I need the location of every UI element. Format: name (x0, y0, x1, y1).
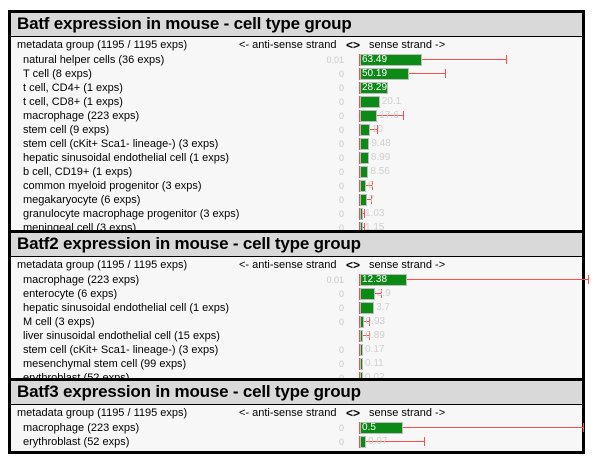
bar-row: hepatic sinusoidal endothelial cell (1 e… (11, 301, 582, 315)
error-bar-cap (445, 69, 446, 78)
axis-min-label: 0 (339, 151, 344, 165)
category-label: hepatic sinusoidal endothelial cell (1 e… (23, 151, 229, 165)
value-bar[interactable] (360, 330, 363, 342)
category-label: erythroblast (52 exps) (23, 435, 129, 449)
bar-value-label: 6 (368, 179, 374, 192)
error-bar-cap (588, 275, 589, 284)
category-label: stem cell (9 exps) (23, 123, 109, 137)
axis-min-label: 0 (339, 421, 344, 435)
bar-plot-area: 0.89 (346, 329, 580, 343)
bar-row: macrophage (223 exps)017.6 (11, 109, 582, 123)
panel-body-batf3: metadata group (1195 / 1195 exps) <- ant… (11, 405, 582, 451)
bar-value-label: 1.03 (365, 207, 384, 220)
error-bar-line (407, 279, 588, 280)
bar-value-label: 8.99 (371, 151, 390, 164)
bar-plot-area: 00.5 (346, 421, 580, 435)
panel-title-batf: Batf expression in mouse - cell type gro… (11, 13, 582, 37)
bar-row: T cell (8 exps)050.19 (11, 67, 582, 81)
bar-plot-area: 028.29 (346, 81, 580, 95)
error-bar-cap (506, 55, 507, 64)
category-label: common myeloid progenitor (3 exps) (23, 179, 202, 193)
bar-plot-area: 017.6 (346, 109, 580, 123)
axis-min-label: 0 (339, 137, 344, 151)
bar-value-label: 3.7 (376, 301, 390, 314)
bar-value-label: 7 (369, 193, 375, 206)
value-bar[interactable] (360, 288, 375, 300)
strand-diamond-icon: <> (346, 406, 360, 420)
bar-row: enterocyte (6 exps)03.9 (11, 287, 582, 301)
category-label: mesenchymal stem cell (99 exps) (23, 357, 186, 371)
category-label: granulocyte macrophage progenitor (3 exp… (23, 207, 239, 221)
value-bar[interactable] (360, 110, 377, 122)
panel-body-batf2: metadata group (1195 / 1195 exps) <- ant… (11, 257, 582, 387)
sense-strand-label: sense strand -> (369, 39, 445, 51)
error-bar-cap (583, 423, 584, 432)
antisense-strand-label: <- anti-sense strand (239, 39, 337, 51)
axis-min-label: 0 (339, 193, 344, 207)
bar-rows-batf2: macrophage (223 exps)0.0112.38enterocyte… (11, 273, 582, 385)
bar-row: macrophage (223 exps)00.5 (11, 421, 582, 435)
value-bar[interactable] (360, 208, 363, 220)
category-label: macrophage (223 exps) (23, 421, 139, 435)
category-label: megakaryocyte (6 exps) (23, 193, 140, 207)
axis-min-label: 0 (339, 165, 344, 179)
bar-value-label: 0.17 (365, 343, 384, 356)
category-label: stem cell (cKit+ Sca1- lineage-) (3 exps… (23, 343, 218, 357)
metadata-group-label: metadata group (1195 / 1195 exps) (17, 39, 187, 51)
category-label: b cell, CD19+ (1 exps) (23, 165, 132, 179)
value-bar[interactable] (360, 96, 380, 108)
value-bar[interactable] (360, 302, 374, 314)
value-bar[interactable] (360, 436, 366, 448)
expression-chart-page: Batf expression in mouse - cell type gro… (0, 0, 600, 457)
bar-plot-area: 0.0112.38 (346, 273, 580, 287)
bar-plot-area: 00.11 (346, 357, 580, 371)
axis-min-label: 0 (339, 207, 344, 221)
bar-plot-area: 03.9 (346, 287, 580, 301)
axis-min-label: 0 (339, 343, 344, 357)
panel-title-batf3: Batf3 expression in mouse - cell type gr… (11, 381, 582, 405)
value-bar[interactable] (360, 194, 367, 206)
bar-value-label: 0.11 (365, 357, 384, 370)
sense-strand-label: sense strand -> (369, 407, 445, 419)
strand-diamond-icon: <> (346, 38, 360, 52)
category-label: hepatic sinusoidal endothelial cell (1 e… (23, 301, 229, 315)
bar-value-label: 0.5 (362, 421, 376, 434)
bar-row: stem cell (cKit+ Sca1- lineage-) (3 exps… (11, 137, 582, 151)
axis-min-label: 0 (339, 435, 344, 449)
value-bar[interactable] (360, 152, 369, 164)
strand-diamond-icon: <> (346, 258, 360, 272)
axis-min-label: 0 (339, 179, 344, 193)
bar-plot-area: 01.03 (346, 207, 580, 221)
bar-plot-area: 03.7 (346, 301, 580, 315)
bar-plot-area: 00.93 (346, 315, 580, 329)
category-label: macrophage (223 exps) (23, 109, 139, 123)
category-label: t cell, CD8+ (1 exps) (23, 95, 123, 109)
bar-plot-area: 08.56 (346, 165, 580, 179)
bar-row: macrophage (223 exps)0.0112.38 (11, 273, 582, 287)
bar-row: liver sinusoidal endothelial cell (15 ex… (11, 329, 582, 343)
error-bar-line (403, 427, 583, 428)
axis-min-label: 0 (339, 67, 344, 81)
axis-min-label: 0 (339, 287, 344, 301)
bar-plot-area: 07 (346, 193, 580, 207)
bar-row: hepatic sinusoidal endothelial cell (1 e… (11, 151, 582, 165)
category-label: macrophage (223 exps) (23, 273, 139, 287)
bar-value-label: 12.38 (362, 273, 387, 286)
bar-value-label: 50.19 (362, 67, 387, 80)
antisense-strand-label: <- anti-sense strand (239, 259, 337, 271)
column-header-row: metadata group (1195 / 1195 exps) <- ant… (11, 407, 582, 421)
value-bar[interactable] (360, 316, 364, 328)
bar-plot-area: 020.1 (346, 95, 580, 109)
bar-row: stem cell (cKit+ Sca1- lineage-) (3 exps… (11, 343, 582, 357)
axis-min-label: 0 (339, 357, 344, 371)
bar-plot-area: 010 (346, 123, 580, 137)
category-label: stem cell (cKit+ Sca1- lineage-) (3 exps… (23, 137, 218, 151)
axis-min-label: 0 (339, 123, 344, 137)
bar-value-label: 0.89 (365, 329, 384, 342)
value-bar[interactable] (360, 138, 369, 150)
panel-title-batf2: Batf2 expression in mouse - cell type gr… (11, 233, 582, 257)
axis-min-label: 0 (339, 301, 344, 315)
bar-row: granulocyte macrophage progenitor (3 exp… (11, 207, 582, 221)
bar-row: M cell (3 exps)00.93 (11, 315, 582, 329)
sense-strand-label: sense strand -> (369, 259, 445, 271)
bar-plot-area: 050.19 (346, 67, 580, 81)
column-header-row: metadata group (1195 / 1195 exps) <- ant… (11, 259, 582, 273)
axis-min-label: 0 (339, 109, 344, 123)
value-bar[interactable] (360, 166, 368, 178)
antisense-strand-label: <- anti-sense strand (239, 407, 337, 419)
error-bar-cap (424, 437, 425, 446)
bar-row: common myeloid progenitor (3 exps)06 (11, 179, 582, 193)
panel-batf2: Batf2 expression in mouse - cell type gr… (8, 230, 585, 390)
axis-min-label: 0.01 (326, 273, 344, 287)
bar-row: stem cell (9 exps)010 (11, 123, 582, 137)
bar-value-label: 3.9 (377, 287, 391, 300)
error-bar-cap (403, 111, 404, 120)
error-bar-line (422, 59, 505, 60)
column-header-row: metadata group (1195 / 1195 exps) <- ant… (11, 39, 582, 53)
bar-value-label: 10 (372, 123, 383, 136)
axis-min-label: 0.01 (326, 53, 344, 67)
bar-row: t cell, CD4+ (1 exps)028.29 (11, 81, 582, 95)
bar-value-label: 63.49 (362, 53, 387, 66)
axis-min-label: 0 (339, 95, 344, 109)
bar-row: t cell, CD8+ (1 exps)020.1 (11, 95, 582, 109)
value-bar[interactable] (360, 358, 363, 370)
bar-value-label: 20.1 (382, 95, 401, 108)
category-label: liver sinusoidal endothelial cell (15 ex… (23, 329, 220, 343)
bar-value-label: 28.29 (362, 81, 387, 94)
bar-plot-area: 00.07 (346, 435, 580, 449)
bar-row: megakaryocyte (6 exps)07 (11, 193, 582, 207)
bar-value-label: 0.07 (368, 435, 387, 448)
metadata-group-label: metadata group (1195 / 1195 exps) (17, 259, 187, 271)
bar-value-label: 8.56 (370, 165, 389, 178)
value-bar[interactable] (360, 180, 366, 192)
bar-value-label: 17.6 (379, 109, 398, 122)
axis-min-label: 0 (339, 315, 344, 329)
bar-value-label: 9.48 (371, 137, 390, 150)
bar-row: erythroblast (52 exps)00.07 (11, 435, 582, 449)
bar-plot-area: 09.48 (346, 137, 580, 151)
bar-row: b cell, CD19+ (1 exps)08.56 (11, 165, 582, 179)
bar-plot-area: 00.17 (346, 343, 580, 357)
bar-value-label: 0.93 (366, 315, 385, 328)
category-label: M cell (3 exps) (23, 315, 95, 329)
metadata-group-label: metadata group (1195 / 1195 exps) (17, 407, 187, 419)
category-label: natural helper cells (36 exps) (23, 53, 164, 67)
bar-row: mesenchymal stem cell (99 exps)00.11 (11, 357, 582, 371)
bar-rows-batf3: macrophage (223 exps)00.5erythroblast (5… (11, 421, 582, 449)
bar-plot-area: 06 (346, 179, 580, 193)
bar-plot-area: 08.99 (346, 151, 580, 165)
bar-row: natural helper cells (36 exps)0.0163.49 (11, 53, 582, 67)
category-label: enterocyte (6 exps) (23, 287, 117, 301)
value-bar[interactable] (360, 124, 370, 136)
value-bar[interactable] (360, 344, 363, 356)
category-label: t cell, CD4+ (1 exps) (23, 81, 123, 95)
panel-batf3: Batf3 expression in mouse - cell type gr… (8, 378, 585, 454)
bar-plot-area: 0.0163.49 (346, 53, 580, 67)
category-label: T cell (8 exps) (23, 67, 92, 81)
axis-min-label: 0 (339, 81, 344, 95)
error-bar-line (409, 73, 444, 74)
